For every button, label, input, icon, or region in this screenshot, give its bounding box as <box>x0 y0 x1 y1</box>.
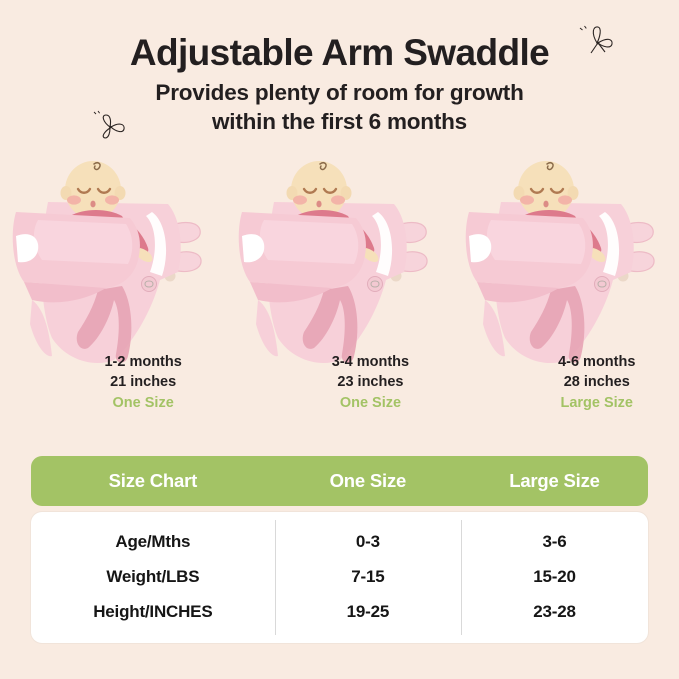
row-label: Age/Mths <box>31 532 275 552</box>
row-one-size: 19-25 <box>275 602 461 622</box>
product-caption: 4-6 months 28 inches Large Size <box>453 352 679 413</box>
baby-in-swaddle-illustration <box>228 160 450 375</box>
baby-in-swaddle-illustration <box>2 160 224 375</box>
product-caption: 3-4 months 23 inches One Size <box>226 352 452 413</box>
product-size-label: Large Size <box>515 393 679 413</box>
product-size-label: One Size <box>288 393 452 413</box>
product-caption: 1-2 months 21 inches One Size <box>0 352 226 413</box>
size-chart-header-cell: One Size <box>275 470 461 492</box>
table-row: Height/INCHES 19-25 23-28 <box>31 594 648 629</box>
subtitle-line-1: Provides plenty of room for growth <box>155 80 523 105</box>
subtitle-line-2: within the first 6 months <box>212 109 467 134</box>
row-one-size: 7-15 <box>275 567 461 587</box>
product-length-label: 28 inches <box>515 372 679 392</box>
product-item: 4-6 months 28 inches Large Size <box>453 160 679 415</box>
product-age-label: 3-4 months <box>288 352 452 372</box>
row-large-size: 15-20 <box>461 567 648 587</box>
row-one-size: 0-3 <box>275 532 461 552</box>
size-chart-header-cell: Large Size <box>461 470 648 492</box>
baby-in-swaddle-illustration <box>455 160 677 375</box>
size-chart-header-row: Size Chart One Size Large Size <box>31 456 648 506</box>
size-chart-body: Age/Mths 0-3 3-6 Weight/LBS 7-15 15-20 H… <box>31 512 648 643</box>
row-large-size: 3-6 <box>461 532 648 552</box>
product-size-label: One Size <box>60 393 226 413</box>
product-illustrations-row: 1-2 months 21 inches One Size <box>0 160 679 415</box>
row-label: Weight/LBS <box>31 567 275 587</box>
product-age-label: 1-2 months <box>60 352 226 372</box>
product-item: 1-2 months 21 inches One Size <box>0 160 226 415</box>
product-age-label: 4-6 months <box>515 352 679 372</box>
table-row: Age/Mths 0-3 3-6 <box>31 524 648 559</box>
product-length-label: 21 inches <box>60 372 226 392</box>
table-row: Weight/LBS 7-15 15-20 <box>31 559 648 594</box>
butterfly-icon-left <box>92 110 132 149</box>
butterfly-icon-right <box>578 22 620 65</box>
size-chart: Size Chart One Size Large Size Age/Mths … <box>31 456 648 643</box>
row-label: Height/INCHES <box>31 602 275 622</box>
size-chart-header-cell: Size Chart <box>31 470 275 492</box>
product-length-label: 23 inches <box>288 372 452 392</box>
row-large-size: 23-28 <box>461 602 648 622</box>
product-item: 3-4 months 23 inches One Size <box>226 160 452 415</box>
